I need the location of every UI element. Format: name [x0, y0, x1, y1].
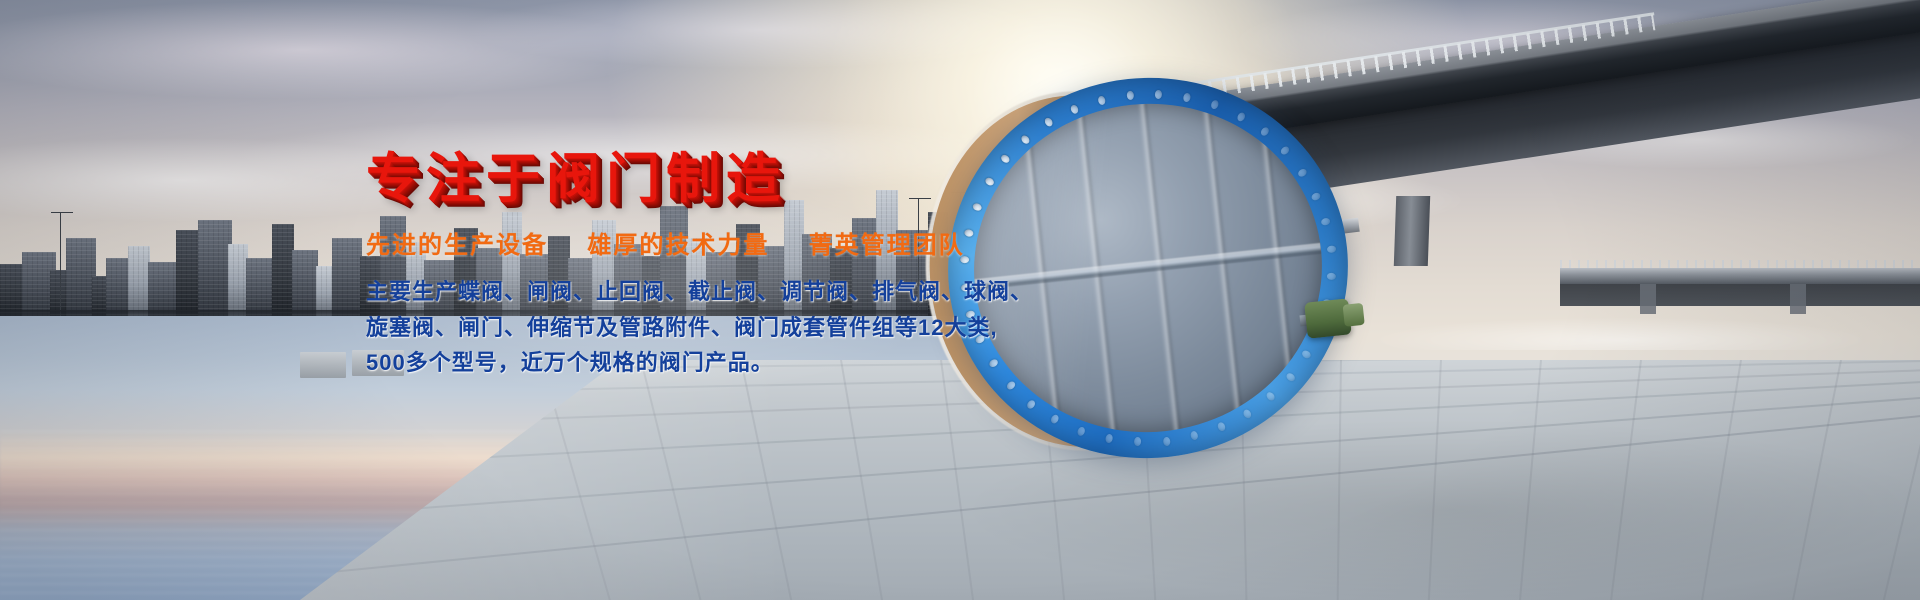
body-copy: 主要生产蝶阀、闸阀、止回阀、截止阀、调节阀、排气阀、球阀、 旋塞阀、闸门、伸缩节…	[366, 274, 986, 381]
body-line-1: 主要生产蝶阀、闸阀、止回阀、截止阀、调节阀、排气阀、球阀、	[366, 274, 986, 310]
kerb-block	[300, 352, 346, 378]
body-line-3: 500多个型号，近万个规格的阀门产品。	[366, 345, 986, 381]
overpass-pier	[1394, 196, 1430, 266]
valve-actuator	[1297, 289, 1368, 350]
distant-bridge-underside	[1560, 284, 1920, 306]
actuator-cap	[1343, 303, 1365, 327]
body-line-2: 旋塞阀、闸门、伸缩节及管路附件、阀门成套管件组等12大类,	[366, 310, 986, 346]
subtitle-part-3: 菁英管理团队	[809, 232, 965, 259]
distant-bridge-pier	[1790, 284, 1806, 314]
distant-bridge-deck	[1560, 268, 1920, 284]
distant-bridge-pier	[1640, 284, 1656, 314]
hero-banner: 专注于阀门制造 先进的生产设备 雄厚的技术力量 菁英管理团队 主要生产蝶阀、闸阀…	[0, 0, 1920, 600]
subtitle-part-2: 雄厚的技术力量	[587, 232, 769, 259]
butterfly-valve	[929, 58, 1367, 478]
subtitle-row: 先进的生产设备 雄厚的技术力量 菁英管理团队	[366, 234, 986, 258]
subtitle-part-1: 先进的生产设备	[366, 232, 548, 259]
copy-block: 专注于阀门制造 先进的生产设备 雄厚的技术力量 菁英管理团队 主要生产蝶阀、闸阀…	[366, 152, 986, 381]
distant-bridge-railing	[1560, 260, 1920, 268]
headline: 专注于阀门制造	[366, 152, 986, 206]
